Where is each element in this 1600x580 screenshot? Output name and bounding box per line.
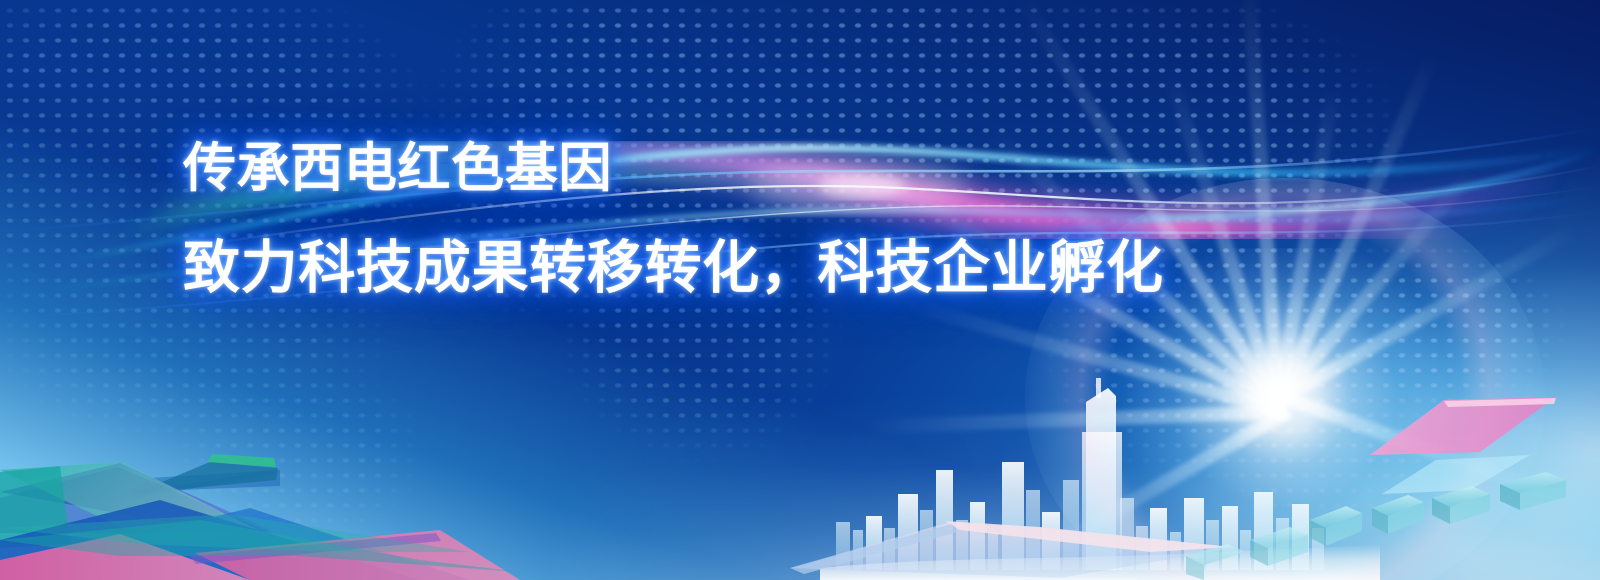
hero-banner: 传承西电红色基因 致力科技成果转移转化，科技企业孵化 [0, 0, 1600, 580]
bottom-mist [0, 390, 1600, 580]
headline-line-2: 致力科技成果转移转化，科技企业孵化 [183, 240, 1263, 297]
headline-block: 传承西电红色基因 致力科技成果转移转化，科技企业孵化 [183, 142, 1263, 297]
headline-line-1: 传承西电红色基因 [183, 142, 1263, 195]
